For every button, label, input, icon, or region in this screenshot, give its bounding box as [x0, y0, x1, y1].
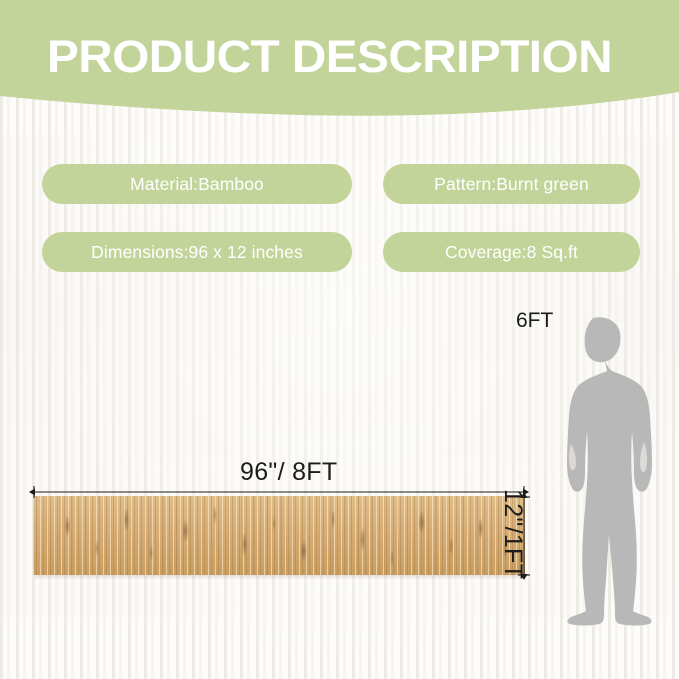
spec-pill-material: Material:Bamboo — [42, 164, 352, 204]
bamboo-panel — [33, 496, 525, 575]
page-title: PRODUCT DESCRIPTION — [47, 32, 612, 82]
person-silhouette-icon — [548, 316, 670, 634]
spec-pill-pattern: Pattern:Burnt green — [383, 164, 640, 204]
spec-pill-coverage-label: Coverage:8 Sq.ft — [445, 242, 578, 263]
bamboo-panel-shadow — [35, 575, 527, 580]
product-description-infographic: PRODUCT DESCRIPTION Material:Bamboo Patt… — [0, 0, 679, 679]
spec-pill-coverage: Coverage:8 Sq.ft — [383, 232, 640, 272]
height-dimension-label: 12"/1FT — [498, 489, 527, 579]
spec-pill-dimensions-label: Dimensions:96 x 12 inches — [91, 242, 303, 263]
spec-pill-material-label: Material:Bamboo — [130, 174, 264, 195]
bamboo-panel-texture — [33, 496, 525, 575]
spec-pill-pattern-label: Pattern:Burnt green — [434, 174, 589, 195]
width-dimension-label: 96"/ 8FT — [240, 458, 337, 487]
spec-pill-dimensions: Dimensions:96 x 12 inches — [42, 232, 352, 272]
